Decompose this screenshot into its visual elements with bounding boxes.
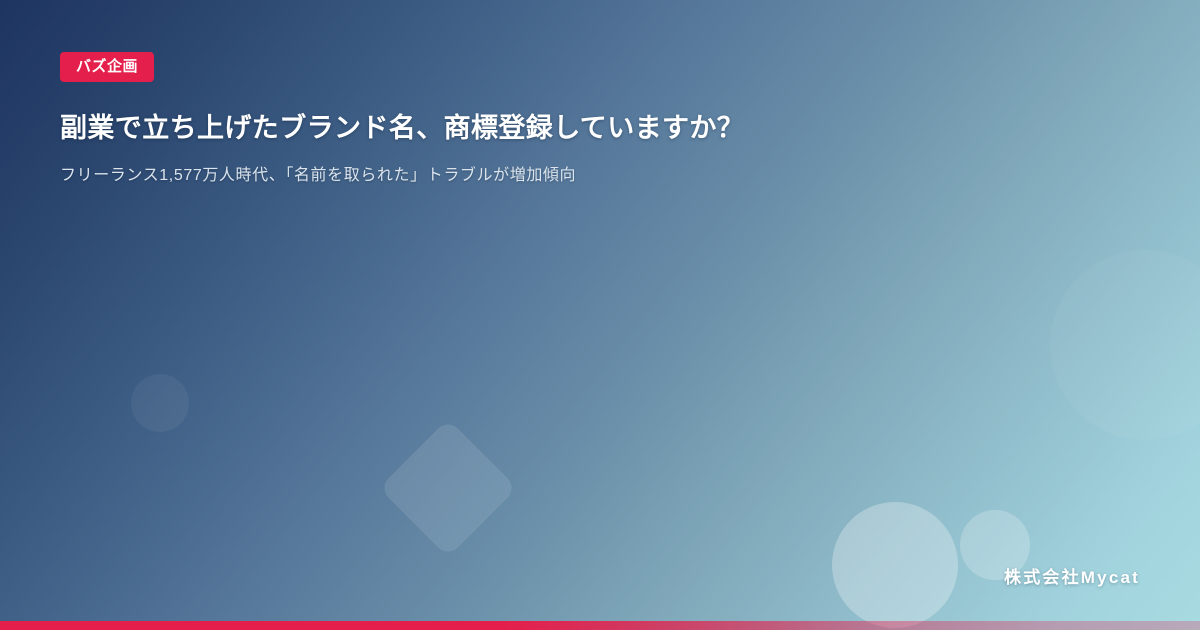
small-circle-shape (131, 374, 189, 432)
rotated-square-shape (379, 419, 518, 558)
card-title: 副業で立ち上げたブランド名、商標登録していますか？ (60, 110, 1140, 146)
card-content: バズ企画 副業で立ち上げたブランド名、商標登録していますか？ フリーランス1,5… (60, 52, 1140, 188)
bottom-accent-bar (0, 621, 1200, 630)
faint-circle-shape (1050, 250, 1200, 440)
card-subtitle: フリーランス1,577万人時代、「名前を取られた」トラブルが増加傾向 (60, 164, 1140, 188)
category-badge: バズ企画 (60, 52, 154, 82)
large-circle-shape (832, 502, 958, 628)
company-name: 株式会社Mycat (1004, 563, 1140, 588)
social-share-card: バズ企画 副業で立ち上げたブランド名、商標登録していますか？ フリーランス1,5… (0, 0, 1200, 630)
